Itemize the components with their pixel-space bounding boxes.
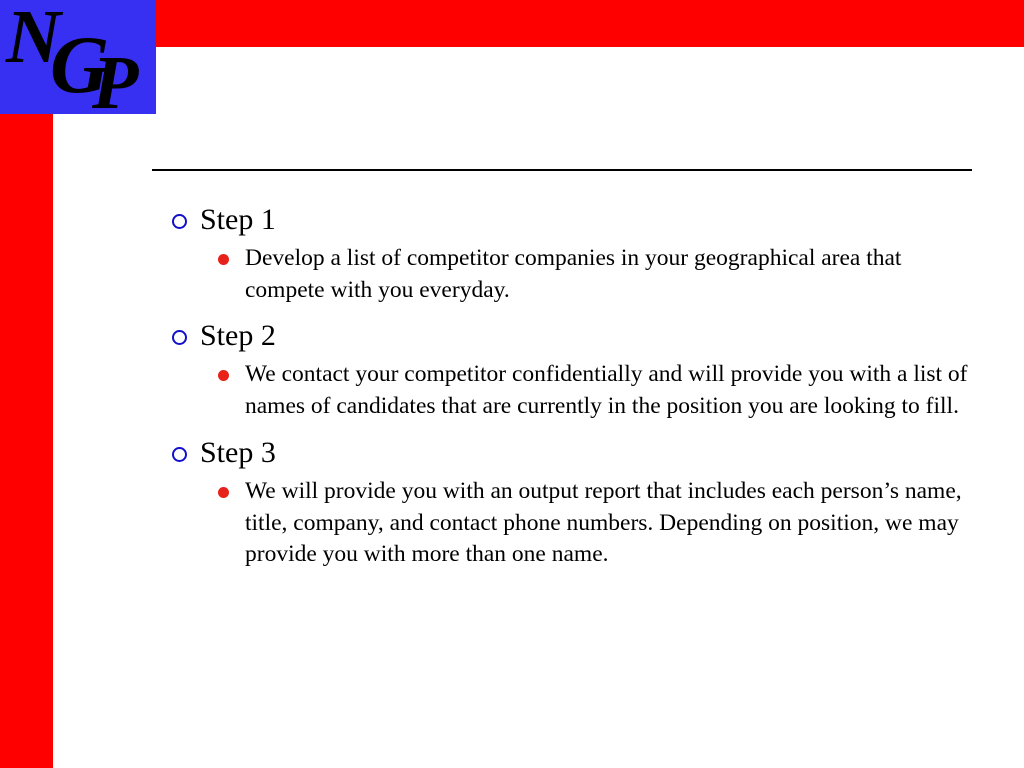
left-accent-stripe (0, 114, 53, 768)
slide-canvas: N G P Step 1 Develop a list of competito… (0, 0, 1024, 768)
step-block-2: Step 2 We contact your competitor confid… (152, 316, 982, 422)
step-heading-label: Step 2 (200, 319, 276, 352)
step-heading-label: Step 3 (200, 436, 276, 469)
step-detail-3: We will provide you with an output repor… (152, 476, 982, 571)
ring-bullet-icon (172, 214, 187, 229)
step-detail-1: Develop a list of competitor companies i… (152, 243, 982, 306)
header-divider (152, 169, 972, 171)
step-detail-text: We will provide you with an output repor… (245, 476, 982, 571)
step-heading-1: Step 1 (152, 200, 982, 240)
ngp-logo: N G P (0, 0, 156, 114)
ngp-logo-icon: N G P (0, 0, 156, 114)
content-body: Step 1 Develop a list of competitor comp… (152, 200, 982, 571)
logo-letter-p: P (91, 41, 139, 114)
step-block-3: Step 3 We will provide you with an outpu… (152, 433, 982, 571)
step-heading-2: Step 2 (152, 316, 982, 356)
ring-bullet-icon (172, 447, 187, 462)
dot-bullet-icon (218, 487, 229, 498)
step-heading-label: Step 1 (200, 203, 276, 236)
top-accent-bar (156, 0, 1024, 47)
ring-bullet-icon (172, 330, 187, 345)
step-detail-text: Develop a list of competitor companies i… (245, 243, 982, 306)
step-block-1: Step 1 Develop a list of competitor comp… (152, 200, 982, 306)
step-detail-2: We contact your competitor confidentiall… (152, 359, 982, 422)
spacer (152, 306, 982, 316)
dot-bullet-icon (218, 370, 229, 381)
step-detail-text: We contact your competitor confidentiall… (245, 359, 982, 422)
spacer (152, 422, 982, 433)
dot-bullet-icon (218, 254, 229, 265)
step-heading-3: Step 3 (152, 433, 982, 473)
